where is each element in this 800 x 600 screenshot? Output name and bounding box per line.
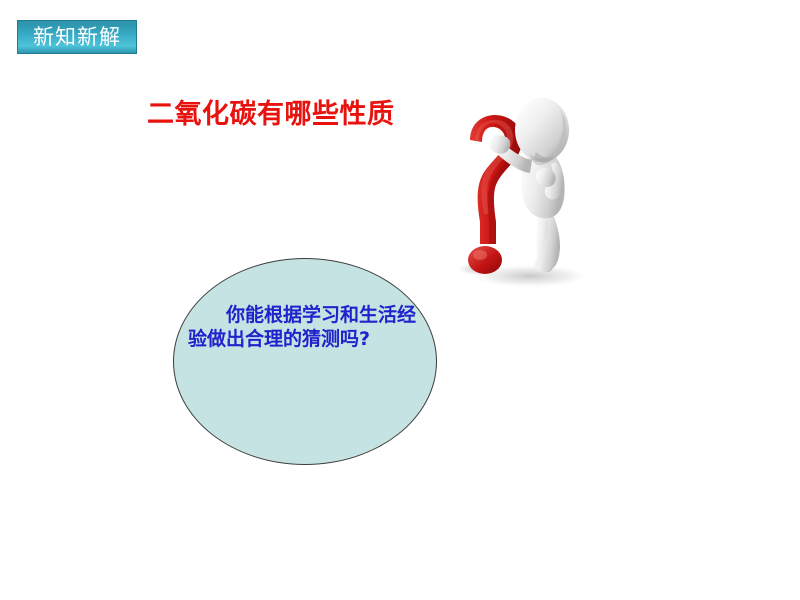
page-title: 二氧化碳有哪些性质: [147, 100, 395, 130]
slide-canvas: 新知新解 二氧化碳有哪些性质 你能根据学习和生活经验做出合理的猜测吗?: [0, 0, 800, 600]
question-bubble-text: 你能根据学习和生活经验做出合理的猜测吗?: [188, 303, 428, 351]
section-badge: 新知新解: [17, 20, 137, 54]
thinking-person-with-question-mark-illustration: [452, 96, 602, 296]
question-bubble: 你能根据学习和生活经验做出合理的猜测吗?: [173, 258, 437, 465]
section-badge-label: 新知新解: [33, 27, 121, 48]
